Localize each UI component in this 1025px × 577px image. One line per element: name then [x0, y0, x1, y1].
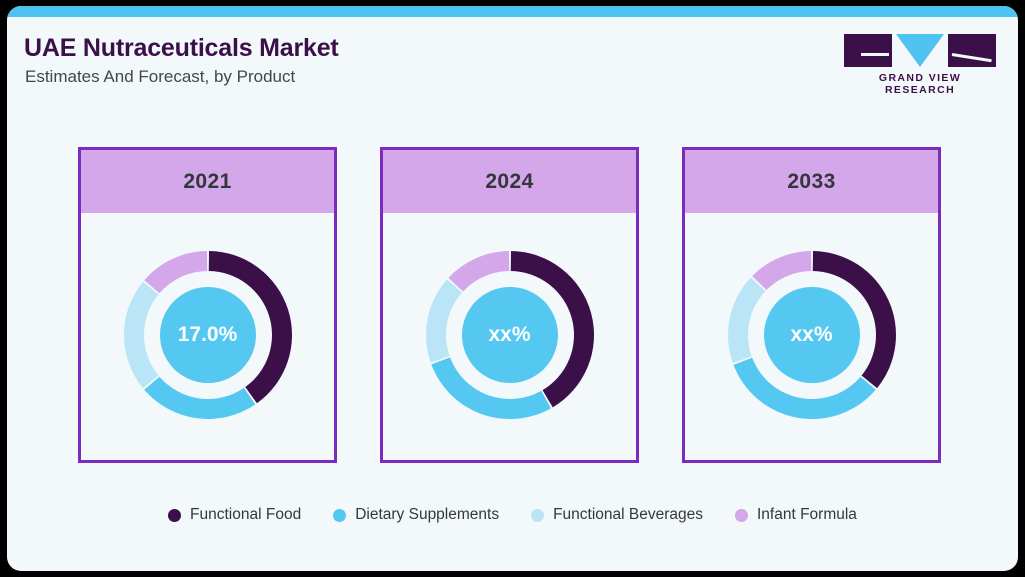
donut-slice-functional-beverages — [728, 277, 765, 363]
chart-card-body: 17.0% — [81, 213, 334, 460]
donut-chart-2021: 17.0% — [122, 249, 294, 421]
donut-inner-circle — [764, 287, 860, 383]
chart-card-year: 2021 — [183, 170, 231, 194]
legend-label: Functional Food — [190, 506, 301, 524]
donut-slice-functional-beverages — [123, 281, 157, 387]
chart-card-body: xx% — [383, 213, 636, 460]
legend-swatch-icon — [735, 509, 748, 522]
legend-swatch-icon — [168, 509, 181, 522]
legend-item-infant-formula[interactable]: Infant Formula — [735, 506, 857, 524]
chart-card-2033: 2033xx% — [682, 147, 941, 463]
chart-legend: Functional FoodDietary SupplementsFuncti… — [7, 506, 1018, 524]
donut-svg — [122, 249, 294, 421]
donut-inner-circle — [160, 287, 256, 383]
chart-card-body: xx% — [685, 213, 938, 460]
chart-card-header: 2033 — [685, 150, 938, 213]
chart-card-year: 2024 — [485, 170, 533, 194]
chart-card-2024: 2024xx% — [380, 147, 639, 463]
legend-item-functional-food[interactable]: Functional Food — [168, 506, 301, 524]
donut-svg — [726, 249, 898, 421]
donut-chart-2024: xx% — [424, 249, 596, 421]
donut-slice-dietary-supplements — [144, 376, 255, 418]
donut-svg — [424, 249, 596, 421]
donut-slice-infant-formula — [448, 251, 509, 291]
legend-label: Functional Beverages — [553, 506, 703, 524]
donut-slice-infant-formula — [144, 251, 207, 293]
chart-card-year: 2033 — [787, 170, 835, 194]
legend-label: Infant Formula — [757, 506, 857, 524]
donut-slice-functional-beverages — [426, 279, 462, 362]
legend-label: Dietary Supplements — [355, 506, 499, 524]
legend-item-functional-beverages[interactable]: Functional Beverages — [531, 506, 703, 524]
legend-swatch-icon — [333, 509, 346, 522]
donut-slice-infant-formula — [752, 251, 811, 290]
chart-card-header: 2021 — [81, 150, 334, 213]
content-panel: UAE Nutraceuticals Market Estimates And … — [7, 6, 1018, 571]
legend-swatch-icon — [531, 509, 544, 522]
chart-card-header: 2024 — [383, 150, 636, 213]
legend-item-dietary-supplements[interactable]: Dietary Supplements — [333, 506, 499, 524]
screenshot-root: UAE Nutraceuticals Market Estimates And … — [0, 0, 1025, 577]
donut-chart-2033: xx% — [726, 249, 898, 421]
chart-cards-row: 202117.0%2024xx%2033xx% — [7, 6, 1018, 571]
donut-inner-circle — [462, 287, 558, 383]
chart-card-2021: 202117.0% — [78, 147, 337, 463]
